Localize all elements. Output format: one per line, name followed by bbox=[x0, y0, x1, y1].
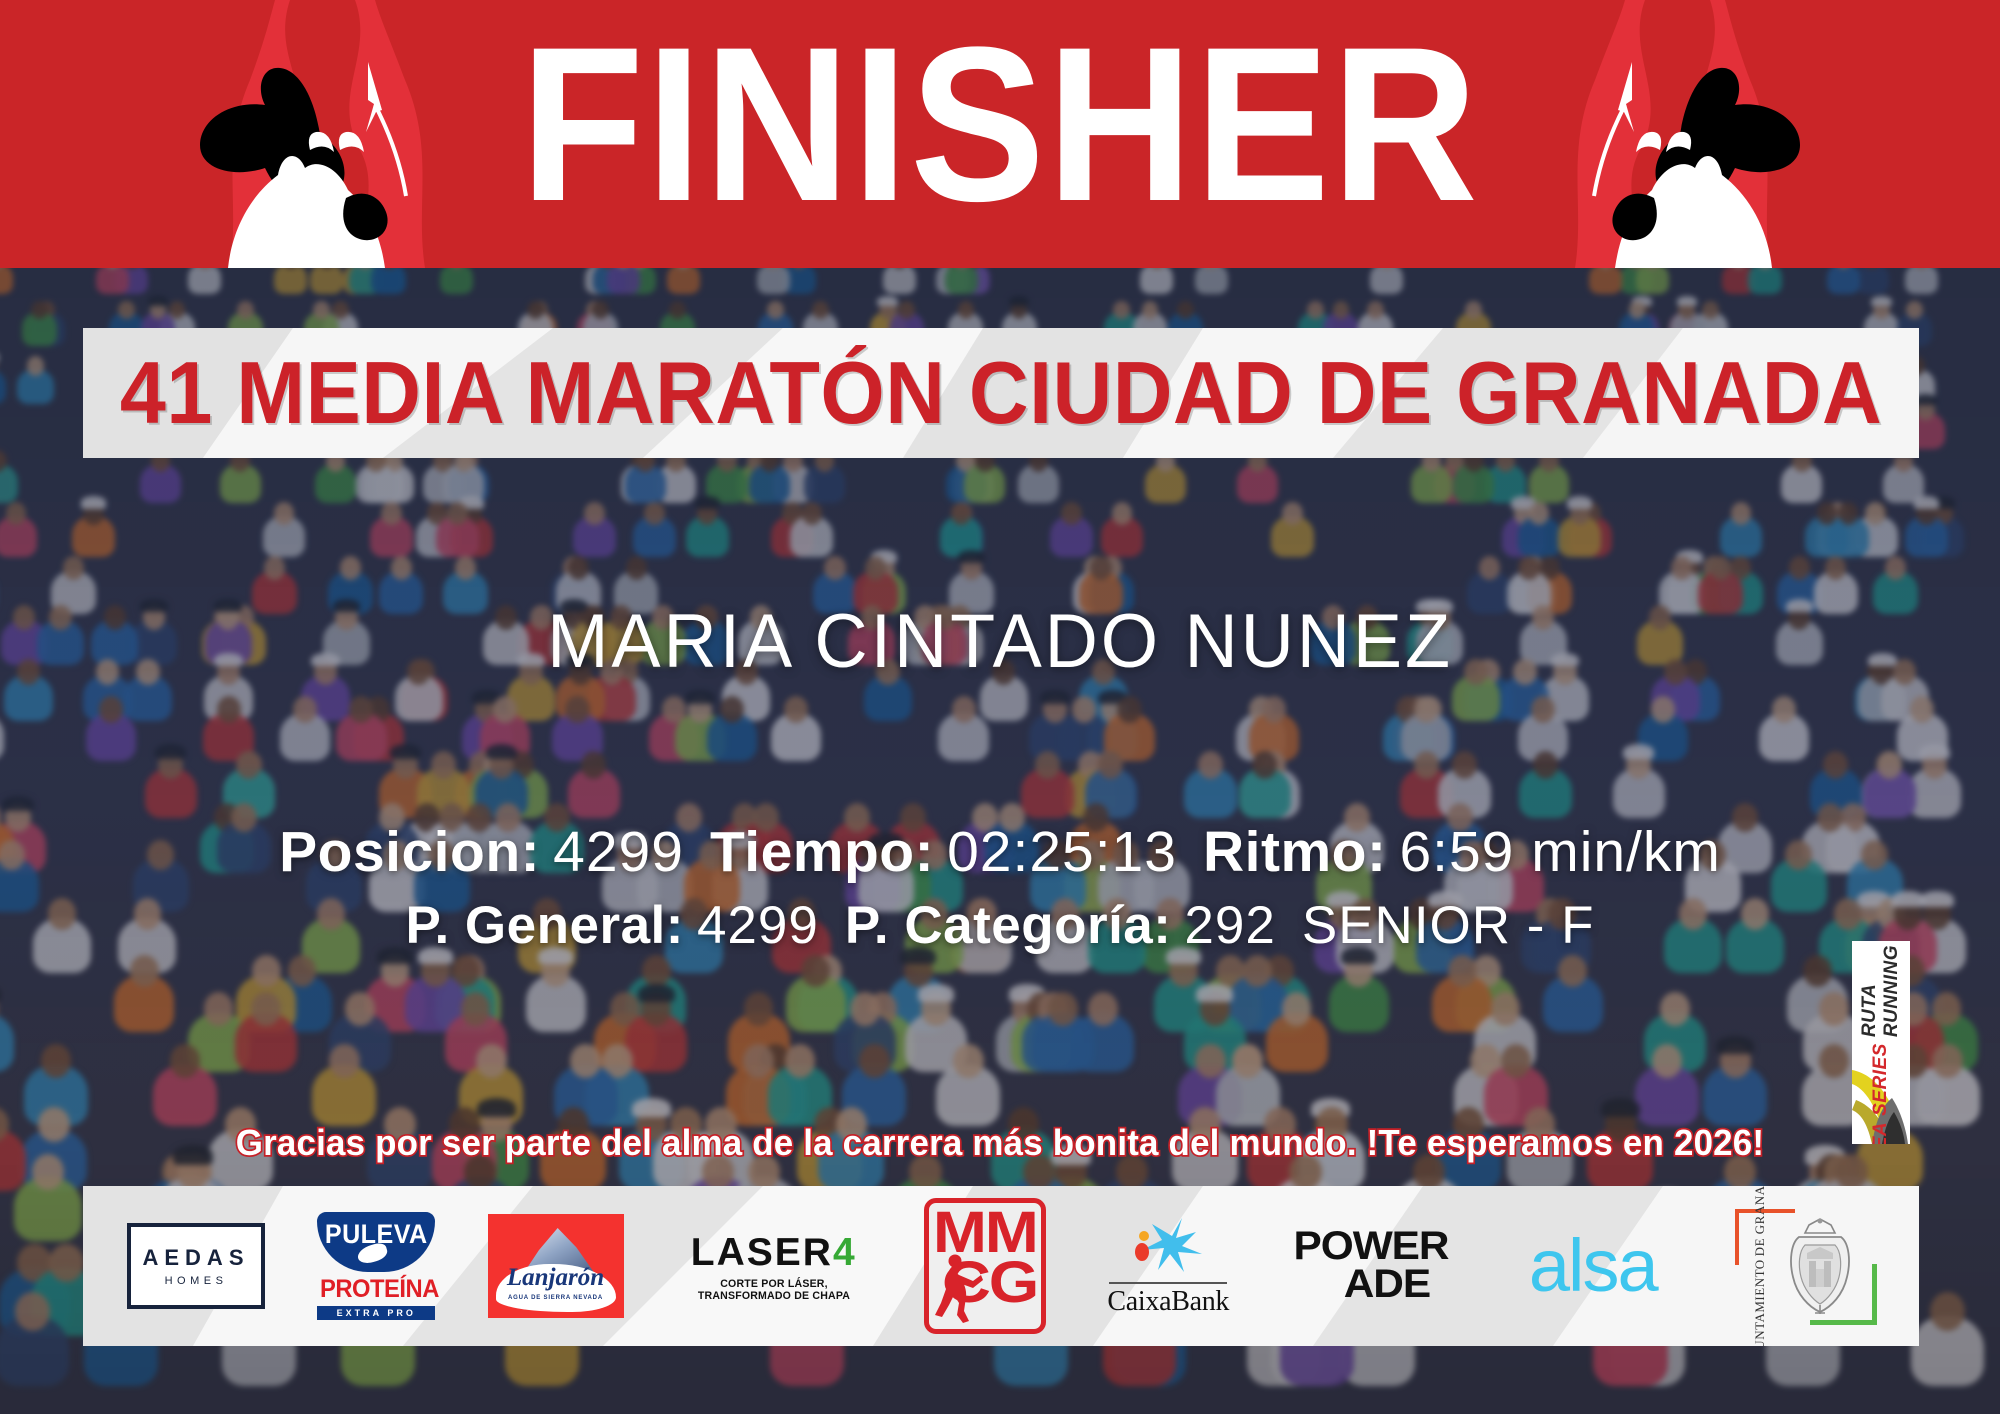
granada-coat-of-arms-icon bbox=[1779, 1217, 1861, 1317]
thank-you-message: Gracias por ser parte del alma de la car… bbox=[30, 1122, 1970, 1164]
laser4-tagline: CORTE POR LÁSER, TRANSFORMADO DE CHAPA bbox=[680, 1278, 868, 1302]
lanjaron-wordmark: Lanjarón bbox=[488, 1264, 624, 1292]
sponsor-logo-alsa: alsa bbox=[1503, 1229, 1683, 1303]
powerade-line-2: ADE bbox=[1286, 1266, 1456, 1304]
aedas-subtitle: HOMES bbox=[165, 1275, 228, 1287]
sponsor-logo-powerade: POWER ADE bbox=[1291, 1228, 1451, 1303]
sponsor-logo-aedas-homes: AEDAS HOMES bbox=[127, 1223, 265, 1309]
value-ritmo: 6:59 min/km bbox=[1399, 820, 1720, 884]
rfea-line-3: RUTA RUNNING bbox=[1859, 945, 1903, 1037]
finisher-header-banner: FINISHER bbox=[0, 0, 2000, 268]
label-p-categoria: P. Categoría: bbox=[845, 896, 1172, 955]
powerade-line-1: POWER bbox=[1286, 1228, 1456, 1266]
label-posicion: Posicion: bbox=[279, 820, 540, 884]
lanjaron-subtitle: AGUA DE SIERRA NEVADA bbox=[488, 1295, 624, 1301]
result-stats: Posicion:4299Tiempo:02:25:13Ritmo:6:59 m… bbox=[0, 814, 2000, 961]
sponsor-logo-lanjaron: Lanjarón AGUA DE SIERRA NEVADA bbox=[488, 1214, 624, 1318]
puleva-shield: PULEVA bbox=[317, 1212, 435, 1272]
label-p-general: P. General: bbox=[405, 896, 684, 955]
caixabank-star-icon bbox=[1126, 1214, 1210, 1274]
event-title: 41 MEDIA MARATÓN CIUDAD DE GRANADA bbox=[138, 328, 1864, 458]
stats-line-1: Posicion:4299Tiempo:02:25:13Ritmo:6:59 m… bbox=[0, 814, 2000, 890]
runner-silhouette-icon bbox=[933, 1253, 985, 1325]
finisher-title: FINISHER bbox=[80, 14, 1920, 234]
laser4-wordmark: LASER4 bbox=[676, 1231, 872, 1275]
value-p-general: 4299 bbox=[697, 896, 819, 955]
value-posicion: 4299 bbox=[553, 820, 684, 884]
laser-four: 4 bbox=[833, 1231, 857, 1274]
sponsor-logo-ayuntamiento-granada: AYUNTAMIENTO DE GRANADA bbox=[1735, 1203, 1883, 1329]
rfea-line-2: SERIES bbox=[1870, 1043, 1892, 1116]
puleva-proteina-text: PROTEÍNA bbox=[320, 1275, 432, 1304]
caixabank-wordmark: CaixaBank bbox=[1098, 1286, 1238, 1318]
rfea-badge-text: RFEA SERIES RUTA RUNNING bbox=[1852, 941, 1910, 1144]
ayuntamiento-line-1: AYUNTAMIENTO bbox=[1752, 1259, 1768, 1346]
sponsor-logo-caixabank: CaixaBank bbox=[1098, 1214, 1238, 1318]
finisher-certificate: FINISHER 41 MEDIA MARATÓN CIUDAD DE GRAN… bbox=[0, 0, 2000, 1414]
rfea-series-badge: RFEA SERIES RUTA RUNNING bbox=[1852, 941, 1910, 1144]
event-title-banner: 41 MEDIA MARATÓN CIUDAD DE GRANADA bbox=[83, 328, 1919, 458]
ayuntamiento-text: AYUNTAMIENTO DE GRANADA bbox=[1749, 1215, 1771, 1319]
ayuntamiento-line-2: DE GRANADA bbox=[1752, 1186, 1768, 1256]
runner-name: MARIA CINTADO NUNEZ bbox=[30, 604, 1970, 680]
sponsor-bar: AEDAS HOMES PULEVA PROTEÍNA EXTRA PRO La… bbox=[83, 1186, 1919, 1346]
sponsor-logo-laser4: LASER4 CORTE POR LÁSER, TRANSFORMADO DE … bbox=[676, 1231, 872, 1302]
caixabank-divider bbox=[1109, 1282, 1227, 1284]
value-categoria-nombre: SENIOR - F bbox=[1302, 896, 1595, 955]
value-p-categoria: 292 bbox=[1184, 896, 1275, 955]
aedas-wordmark: AEDAS bbox=[142, 1245, 249, 1271]
value-tiempo: 02:25:13 bbox=[947, 820, 1177, 884]
label-ritmo: Ritmo: bbox=[1203, 820, 1386, 884]
label-tiempo: Tiempo: bbox=[710, 820, 934, 884]
stats-line-2: P. General:4299P. Categoría:292SENIOR - … bbox=[0, 890, 2000, 961]
laser-text: LASER bbox=[691, 1231, 833, 1274]
sponsor-logo-puleva: PULEVA PROTEÍNA EXTRA PRO bbox=[317, 1212, 435, 1320]
sponsor-logo-mmcg: MM CG bbox=[924, 1198, 1046, 1334]
puleva-extrapro-text: EXTRA PRO bbox=[317, 1306, 435, 1320]
